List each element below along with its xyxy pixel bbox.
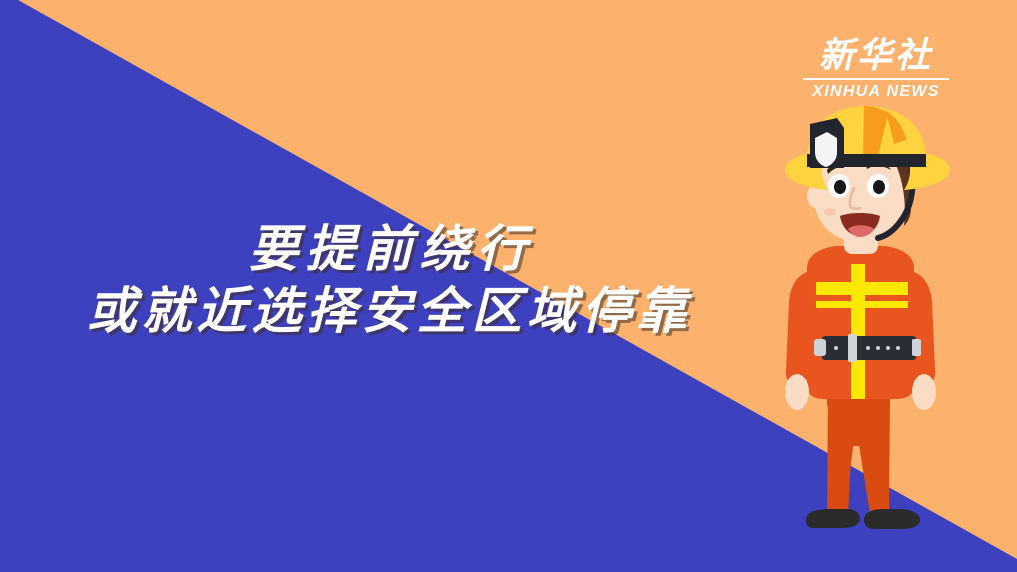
legs-group — [827, 392, 890, 516]
caption-line-2: 或就近选择安全区域停靠 — [0, 280, 760, 342]
caption-line-1: 要提前绕行 — [0, 218, 760, 280]
poster-canvas: 新华社 XINHUA NEWS 要提前绕行 或就近选择安全区域停靠 — [0, 0, 1017, 572]
firefighter-illustration — [744, 96, 1017, 572]
shoes-group — [806, 509, 920, 529]
caption-block: 要提前绕行 或就近选择安全区域停靠 — [0, 218, 760, 342]
belt-group — [814, 334, 921, 362]
xinhua-news-logo: 新华社 XINHUA NEWS — [801, 36, 951, 101]
logo-chinese-text: 新华社 — [801, 36, 951, 76]
logo-divider-rule — [803, 78, 949, 80]
